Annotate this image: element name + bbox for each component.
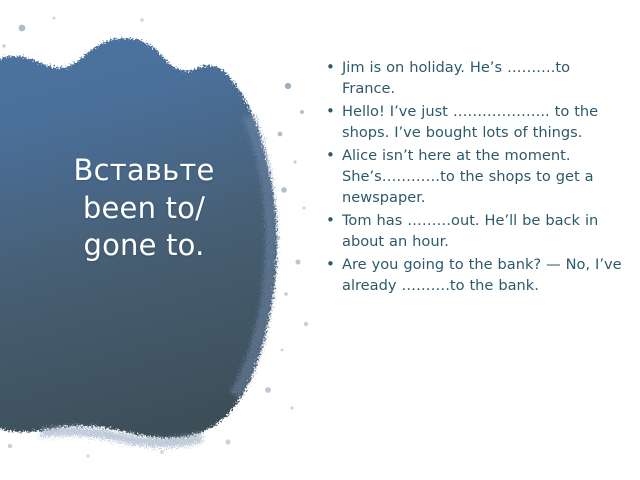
list-item-text: Tom has ………out. He’ll be back in about a… [342,210,622,252]
title-line-1: Вставьте [8,152,280,190]
bullet-icon: • [322,57,342,78]
list-item-text: Alice isn’t here at the moment. She’s………… [342,145,622,208]
bullet-icon: • [322,254,342,275]
list-item: • Are you going to the bank? — No, I’ve … [322,254,622,296]
list-item-text: Jim is on holiday. He’s ……….to France. [342,57,622,99]
title-line-3: gone to. [8,227,280,265]
slide-canvas: Вставьте been to/ gone to. • Jim is on h… [0,0,640,480]
list-item: • Tom has ………out. He’ll be back in about… [322,210,622,252]
list-item-text: Are you going to the bank? — No, I’ve al… [342,254,622,296]
page-title: Вставьте been to/ gone to. [8,152,280,265]
list-item: • Alice isn’t here at the moment. She’s…… [322,145,622,208]
bullet-icon: • [322,101,342,122]
bullet-icon: • [322,145,342,166]
exercise-list: • Jim is on holiday. He’s ……….to France.… [322,57,622,298]
title-line-2: been to/ [8,190,280,228]
bullet-icon: • [322,210,342,231]
list-item: • Hello! I’ve just ……………….. to the shops… [322,101,622,143]
list-item: • Jim is on holiday. He’s ……….to France. [322,57,622,99]
list-item-text: Hello! I’ve just ……………….. to the shops. … [342,101,622,143]
